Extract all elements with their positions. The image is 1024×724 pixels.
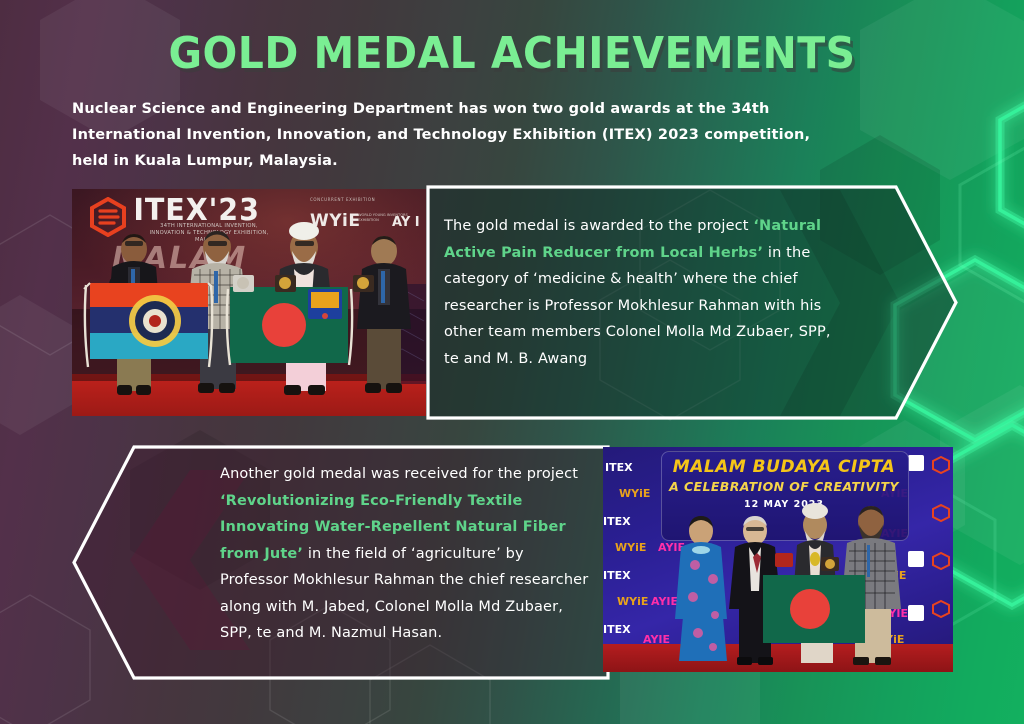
page-title: GOLD MEDAL ACHIEVEMENTS: [36, 28, 988, 79]
photo-gala-award-group: ITEX WYiE ITEX WYiE ITEX WYiE ITEX AYIE …: [603, 447, 953, 672]
award-2-text-before: Another gold medal was received for the …: [220, 466, 578, 482]
poster-canvas: GOLD MEDAL ACHIEVEMENTS Nuclear Science …: [0, 0, 1024, 724]
award-1-panel: The gold medal is awarded to the project…: [426, 185, 960, 420]
award-winners-figures: [72, 189, 426, 416]
award-2-text: Another gold medal was received for the …: [220, 461, 590, 647]
intro-line-3: held in Kuala Lumpur, Malaysia.: [72, 148, 922, 174]
award-1-text-after: in the category of ‘medicine & health’ w…: [444, 245, 831, 367]
award-1-text: The gold medal is awarded to the project…: [444, 213, 844, 372]
intro-line-2: International Invention, Innovation, and…: [72, 122, 922, 148]
regimental-flag: [84, 283, 212, 367]
photo-itex-award-group: ITEX'23 34TH INTERNATIONAL INVENTION, IN…: [72, 189, 426, 416]
gala-figures: [603, 447, 953, 672]
award-2-panel: Another gold medal was received for the …: [72, 445, 610, 680]
award-1-text-before: The gold medal is awarded to the project: [444, 218, 753, 234]
intro-line-1: Nuclear Science and Engineering Departme…: [72, 96, 922, 122]
bangladesh-flag: [763, 575, 865, 643]
intro-paragraph: Nuclear Science and Engineering Departme…: [72, 96, 922, 174]
